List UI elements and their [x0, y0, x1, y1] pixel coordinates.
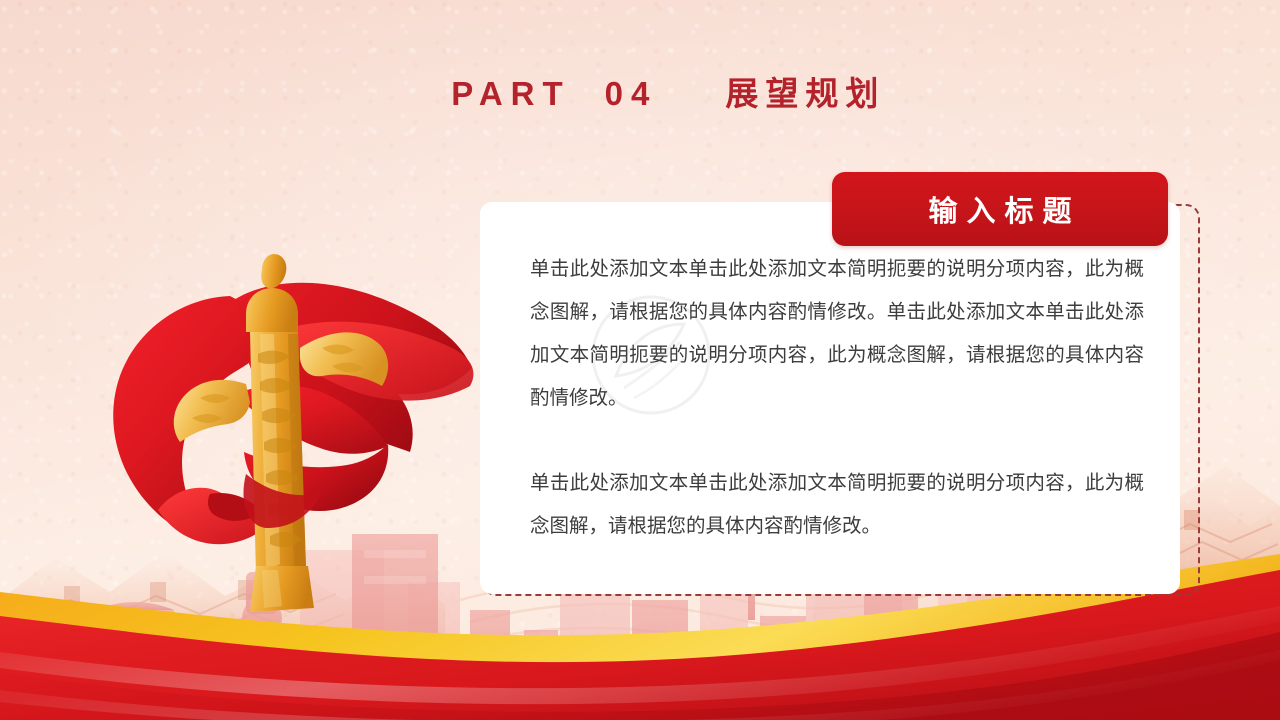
content-paragraph-1: 单击此处添加文本单击此处添加文本简明扼要的说明分项内容，此为概念图解，请根据您的… — [530, 248, 1144, 420]
content-card: 单击此处添加文本单击此处添加文本简明扼要的说明分项内容，此为概念图解，请根据您的… — [480, 202, 1180, 594]
content-paragraph-2: 单击此处添加文本单击此处添加文本简明扼要的说明分项内容，此为概念图解，请根据您的… — [530, 462, 1144, 548]
page-title-part-label: PART — [451, 75, 570, 112]
page-title: PART04展望规划 — [0, 34, 1280, 153]
slide-canvas: PART04展望规划 单击此处添加文本单击此处添加文本简明扼要的说明分项内容，此… — [0, 0, 1280, 720]
content-title-badge[interactable]: 输入标题 — [832, 172, 1168, 246]
page-title-part-number: 04 — [605, 75, 658, 112]
content-title-badge-label: 输入标题 — [919, 188, 1080, 230]
page-title-section: 展望规划 — [725, 75, 885, 112]
huabiao-monument-artwork — [60, 236, 480, 636]
content-card-body: 单击此处添加文本单击此处添加文本简明扼要的说明分项内容，此为概念图解，请根据您的… — [530, 248, 1144, 548]
